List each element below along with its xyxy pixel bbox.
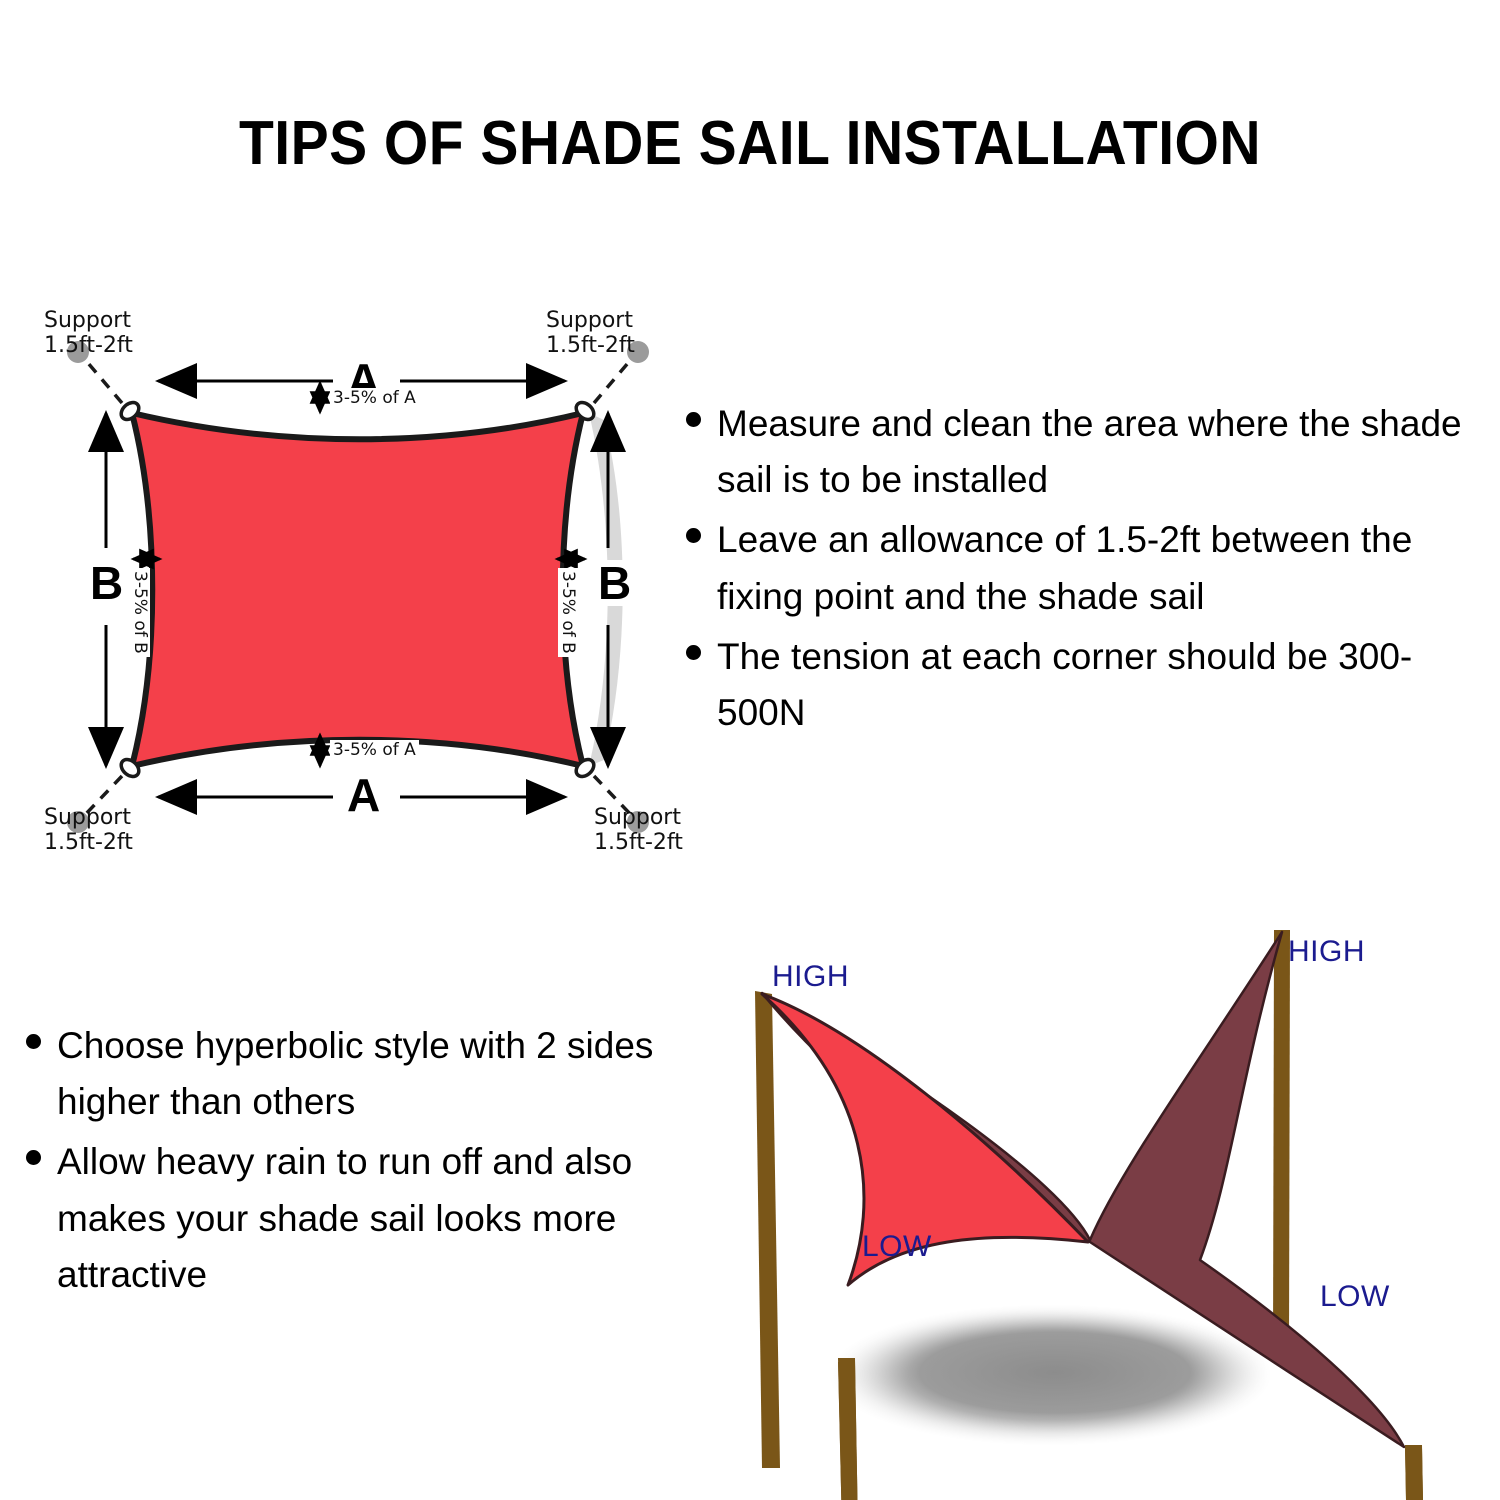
- support-label-line2: 1.5ft-2ft: [44, 333, 133, 358]
- list-item: Choose hyperbolic style with 2 sides hig…: [26, 1018, 666, 1130]
- ground-shadow: [830, 1305, 1270, 1445]
- installation-tips-list: Measure and clean the area where the sha…: [686, 396, 1486, 745]
- bullet-dot-icon: [686, 412, 701, 427]
- support-label-line1: Support: [546, 308, 633, 333]
- pole-low-right: [1405, 1445, 1423, 1500]
- pole-low-left-front: [838, 1362, 858, 1500]
- support-label-top-left: Support 1.5ft-2ft: [44, 308, 133, 359]
- sail-panel-rear: [762, 932, 1404, 1447]
- rect-sail-shape: [132, 413, 583, 766]
- ground-shadow-block: [845, 1310, 1265, 1435]
- list-item: The tension at each corner should be 300…: [686, 629, 1486, 741]
- pole-high-left: [755, 991, 780, 1468]
- list-item: Allow heavy rain to run off and also mak…: [26, 1134, 666, 1303]
- page-title: TIPS OF SHADE SAIL INSTALLATION: [60, 108, 1440, 179]
- support-label-top-right: Support 1.5ft-2ft: [546, 308, 635, 359]
- dimension-letter-bottom-a: A: [341, 772, 386, 818]
- list-item-text: Measure and clean the area where the sha…: [717, 396, 1486, 508]
- list-item-text: Choose hyperbolic style with 2 sides hig…: [57, 1018, 666, 1130]
- curve-label-bottom: 3-5% of A: [330, 740, 419, 760]
- dimension-letter-right-b: B: [592, 560, 637, 606]
- support-label-line1: Support: [44, 308, 131, 333]
- support-label-line1: Support: [594, 805, 681, 830]
- list-item: Measure and clean the area where the sha…: [686, 396, 1486, 508]
- pole-high-right: [1273, 930, 1290, 1350]
- dimension-letter-left-b: B: [84, 560, 129, 606]
- curve-label-right: 3-5% of B: [558, 568, 578, 657]
- label-high-left: HIGH: [772, 960, 849, 994]
- support-label-line2: 1.5ft-2ft: [44, 830, 133, 855]
- support-label-bottom-right: Support 1.5ft-2ft: [594, 805, 683, 856]
- bullet-dot-icon: [686, 528, 701, 543]
- support-label-line2: 1.5ft-2ft: [546, 333, 635, 358]
- label-low-right: LOW: [1320, 1280, 1390, 1314]
- curve-depth-arrows: [133, 383, 585, 766]
- pole-low-left: [838, 1358, 858, 1500]
- bullet-dot-icon: [26, 1034, 41, 1049]
- curve-label-top: 3-5% of A: [330, 388, 419, 408]
- pole-low-right-front: [1405, 1448, 1423, 1500]
- support-label-bottom-left: Support 1.5ft-2ft: [44, 805, 133, 856]
- support-label-line1: Support: [44, 805, 131, 830]
- support-label-line2: 1.5ft-2ft: [594, 830, 683, 855]
- label-low-left: LOW: [862, 1230, 932, 1264]
- curve-label-left: 3-5% of B: [130, 568, 150, 657]
- bullet-dot-icon: [686, 645, 701, 660]
- page-root: TIPS OF SHADE SAIL INSTALLATION: [0, 0, 1500, 1500]
- corner-eyelets: [118, 399, 597, 780]
- label-high-right: HIGH: [1288, 935, 1365, 969]
- list-item: Leave an allowance of 1.5-2ft between th…: [686, 512, 1486, 624]
- list-item-text: The tension at each corner should be 300…: [717, 629, 1486, 741]
- list-item-text: Allow heavy rain to run off and also mak…: [57, 1134, 666, 1303]
- hyperbolic-style-tips-list: Choose hyperbolic style with 2 sides hig…: [26, 1018, 666, 1307]
- list-item-text: Leave an allowance of 1.5-2ft between th…: [717, 512, 1486, 624]
- bullet-dot-icon: [26, 1150, 41, 1165]
